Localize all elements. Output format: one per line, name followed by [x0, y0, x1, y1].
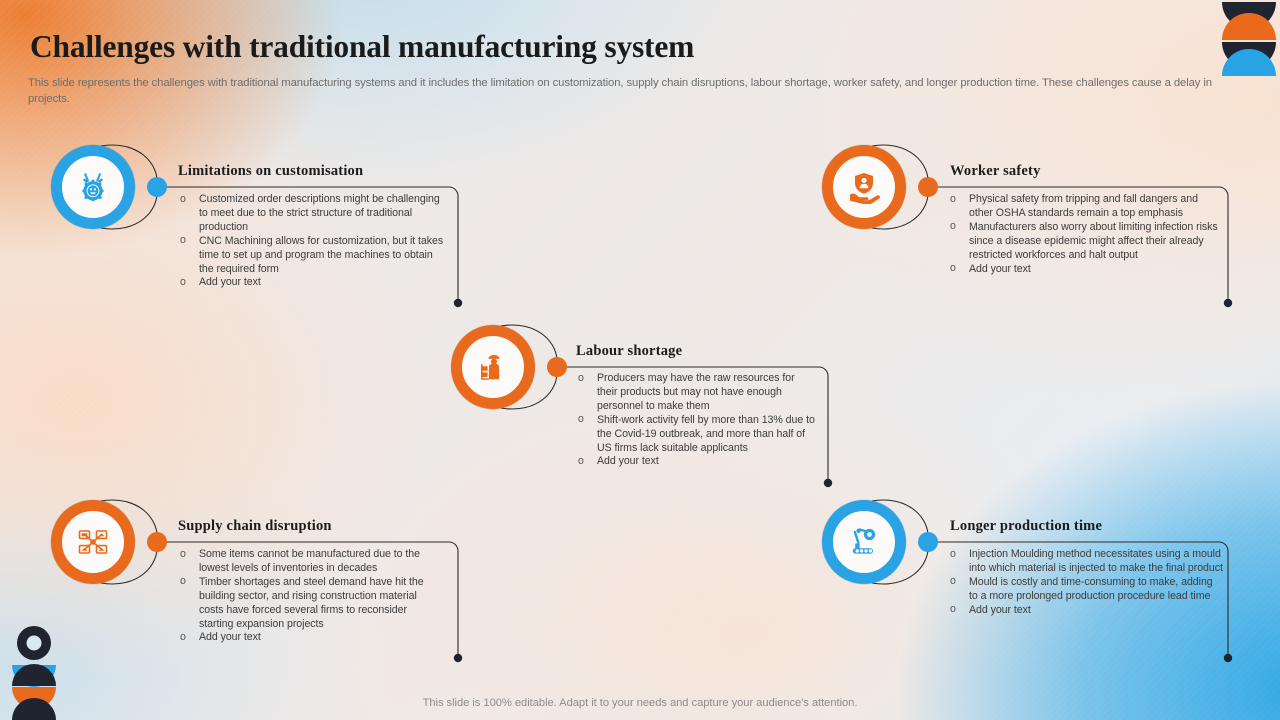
list-item: Customized order descriptions might be c… — [178, 193, 446, 235]
list-item: Add your text — [948, 604, 1224, 618]
list-item: Injection Moulding method necessitates u… — [948, 548, 1224, 576]
connector-node-5 — [918, 532, 938, 552]
network-nodes-icon — [75, 524, 111, 560]
connector-end-dot-4 — [454, 654, 462, 662]
list-item: Add your text — [178, 276, 446, 290]
card-icon-longer-production-time[interactable] — [822, 500, 906, 584]
card-icon-supply-chain-disruption[interactable] — [51, 500, 135, 584]
connector-end-dot-1 — [454, 299, 462, 307]
card-heading-labour-shortage: Labour shortage — [576, 343, 682, 360]
list-item: Timber shortages and steel demand have h… — [178, 576, 444, 632]
list-item: CNC Machining allows for customization, … — [178, 235, 446, 277]
connector-end-dot-5 — [1224, 654, 1232, 662]
card-heading-longer-production-time: Longer production time — [950, 518, 1102, 535]
connector-node-1 — [147, 177, 167, 197]
footer-note: This slide is 100% editable. Adapt it to… — [0, 697, 1280, 709]
gear-tools-icon — [76, 170, 110, 204]
card-icon-worker-safety[interactable] — [822, 145, 906, 229]
connector-end-dot-3 — [824, 479, 832, 487]
connector-node-4 — [147, 532, 167, 552]
card-bullets-labour-shortage: Producers may have the raw resources for… — [576, 372, 816, 469]
card-icon-labour-shortage[interactable] — [451, 325, 535, 409]
list-item: Add your text — [948, 263, 1224, 277]
card-bullets-limitations-on-customisation: Customized order descriptions might be c… — [178, 193, 446, 290]
robotic-arm-gear-icon — [846, 524, 882, 560]
list-item: Some items cannot be manufactured due to… — [178, 548, 444, 576]
card-heading-limitations-on-customisation: Limitations on customisation — [178, 163, 363, 180]
card-bullets-longer-production-time: Injection Moulding method necessitates u… — [948, 548, 1224, 618]
page-title: Challenges with traditional manufacturin… — [30, 29, 694, 65]
connector-end-dot-2 — [1224, 299, 1232, 307]
connector-node-2 — [918, 177, 938, 197]
page-subtitle: This slide represents the challenges wit… — [28, 76, 1233, 107]
hand-safety-shield-icon — [847, 170, 881, 204]
worker-with-boxes-icon — [476, 350, 510, 384]
card-heading-worker-safety: Worker safety — [950, 163, 1041, 180]
list-item: Producers may have the raw resources for… — [576, 372, 816, 414]
list-item: Add your text — [576, 455, 816, 469]
card-heading-supply-chain-disruption: Supply chain disruption — [178, 518, 332, 535]
connector-node-3 — [547, 357, 567, 377]
list-item: Add your text — [178, 631, 444, 645]
card-bullets-supply-chain-disruption: Some items cannot be manufactured due to… — [178, 548, 444, 645]
list-item: Shift-work activity fell by more than 13… — [576, 414, 816, 456]
card-bullets-worker-safety: Physical safety from tripping and fall d… — [948, 193, 1224, 276]
list-item: Physical safety from tripping and fall d… — [948, 193, 1224, 221]
list-item: Mould is costly and time-consuming to ma… — [948, 576, 1224, 604]
lens-stack-icon — [1208, 0, 1280, 76]
card-icon-limitations-on-customisation[interactable] — [51, 145, 135, 229]
list-item: Manufacturers also worry about limiting … — [948, 221, 1224, 263]
